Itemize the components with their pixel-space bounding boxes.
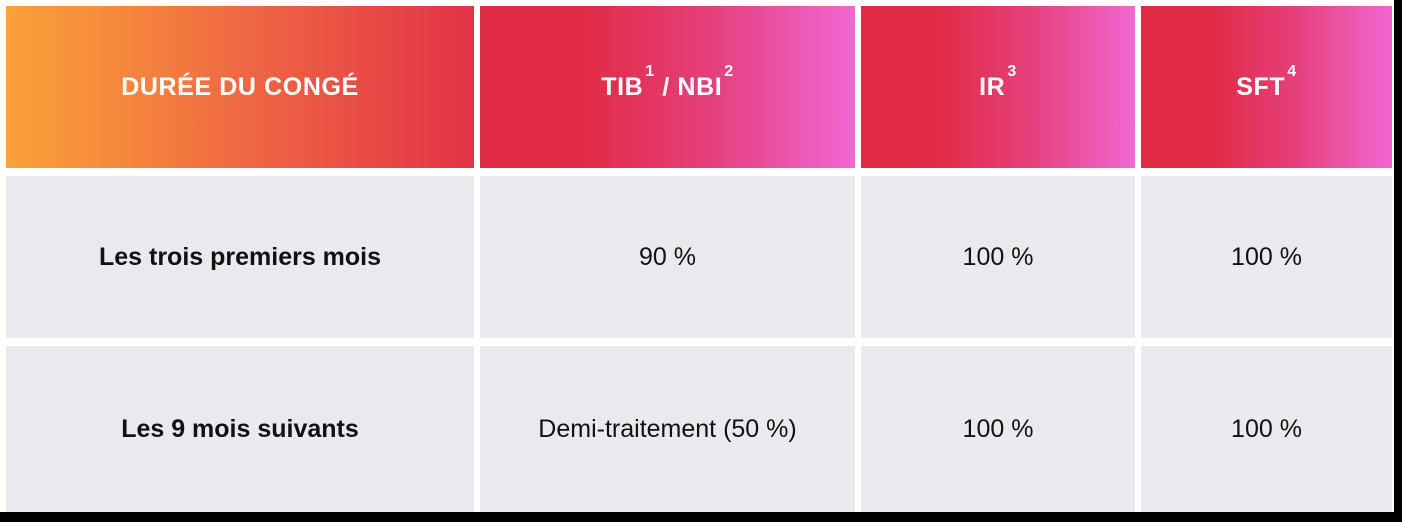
header-label-duree: DURÉE DU CONGÉ — [121, 73, 359, 102]
header-label-sft: SFT — [1236, 73, 1285, 101]
header-cell-ir: IR3 — [861, 6, 1135, 168]
table-grid: DURÉE DU CONGÉ TIB1 / NBI2 IR3 SFT4 Les … — [6, 6, 1394, 512]
cell-sft: 100 % — [1141, 346, 1392, 512]
header-cell-duree: DURÉE DU CONGÉ — [6, 6, 474, 168]
table-header-row: DURÉE DU CONGÉ TIB1 / NBI2 IR3 SFT4 — [6, 6, 1394, 168]
cell-ir: 100 % — [861, 346, 1135, 512]
header-label-ir-wrap: IR3 — [979, 73, 1017, 102]
table-row: Les trois premiers mois 90 % 100 % 100 % — [6, 176, 1394, 338]
table-row: Les 9 mois suivants Demi-traitement (50 … — [6, 346, 1394, 512]
cell-sft: 100 % — [1141, 176, 1392, 338]
cell-duree: Les 9 mois suivants — [6, 346, 474, 512]
header-label-tib: TIB — [601, 73, 643, 101]
header-cell-sft: SFT4 — [1141, 6, 1392, 168]
header-superscript-2: 2 — [724, 63, 734, 80]
header-label-sft-wrap: SFT4 — [1236, 73, 1297, 102]
comparison-table: DURÉE DU CONGÉ TIB1 / NBI2 IR3 SFT4 Les … — [0, 0, 1402, 522]
header-label-nbi: / NBI — [655, 73, 723, 101]
cell-duree: Les trois premiers mois — [6, 176, 474, 338]
header-cell-tib-nbi: TIB1 / NBI2 — [480, 6, 855, 168]
header-superscript-3: 3 — [1007, 63, 1017, 80]
cell-ir: 100 % — [861, 176, 1135, 338]
header-label-tib-nbi: TIB1 / NBI2 — [601, 73, 734, 102]
header-label-ir: IR — [979, 73, 1005, 101]
header-superscript-1: 1 — [645, 63, 655, 80]
cell-tib-nbi: Demi-traitement (50 %) — [480, 346, 855, 512]
cell-tib-nbi: 90 % — [480, 176, 855, 338]
header-superscript-4: 4 — [1287, 63, 1297, 80]
